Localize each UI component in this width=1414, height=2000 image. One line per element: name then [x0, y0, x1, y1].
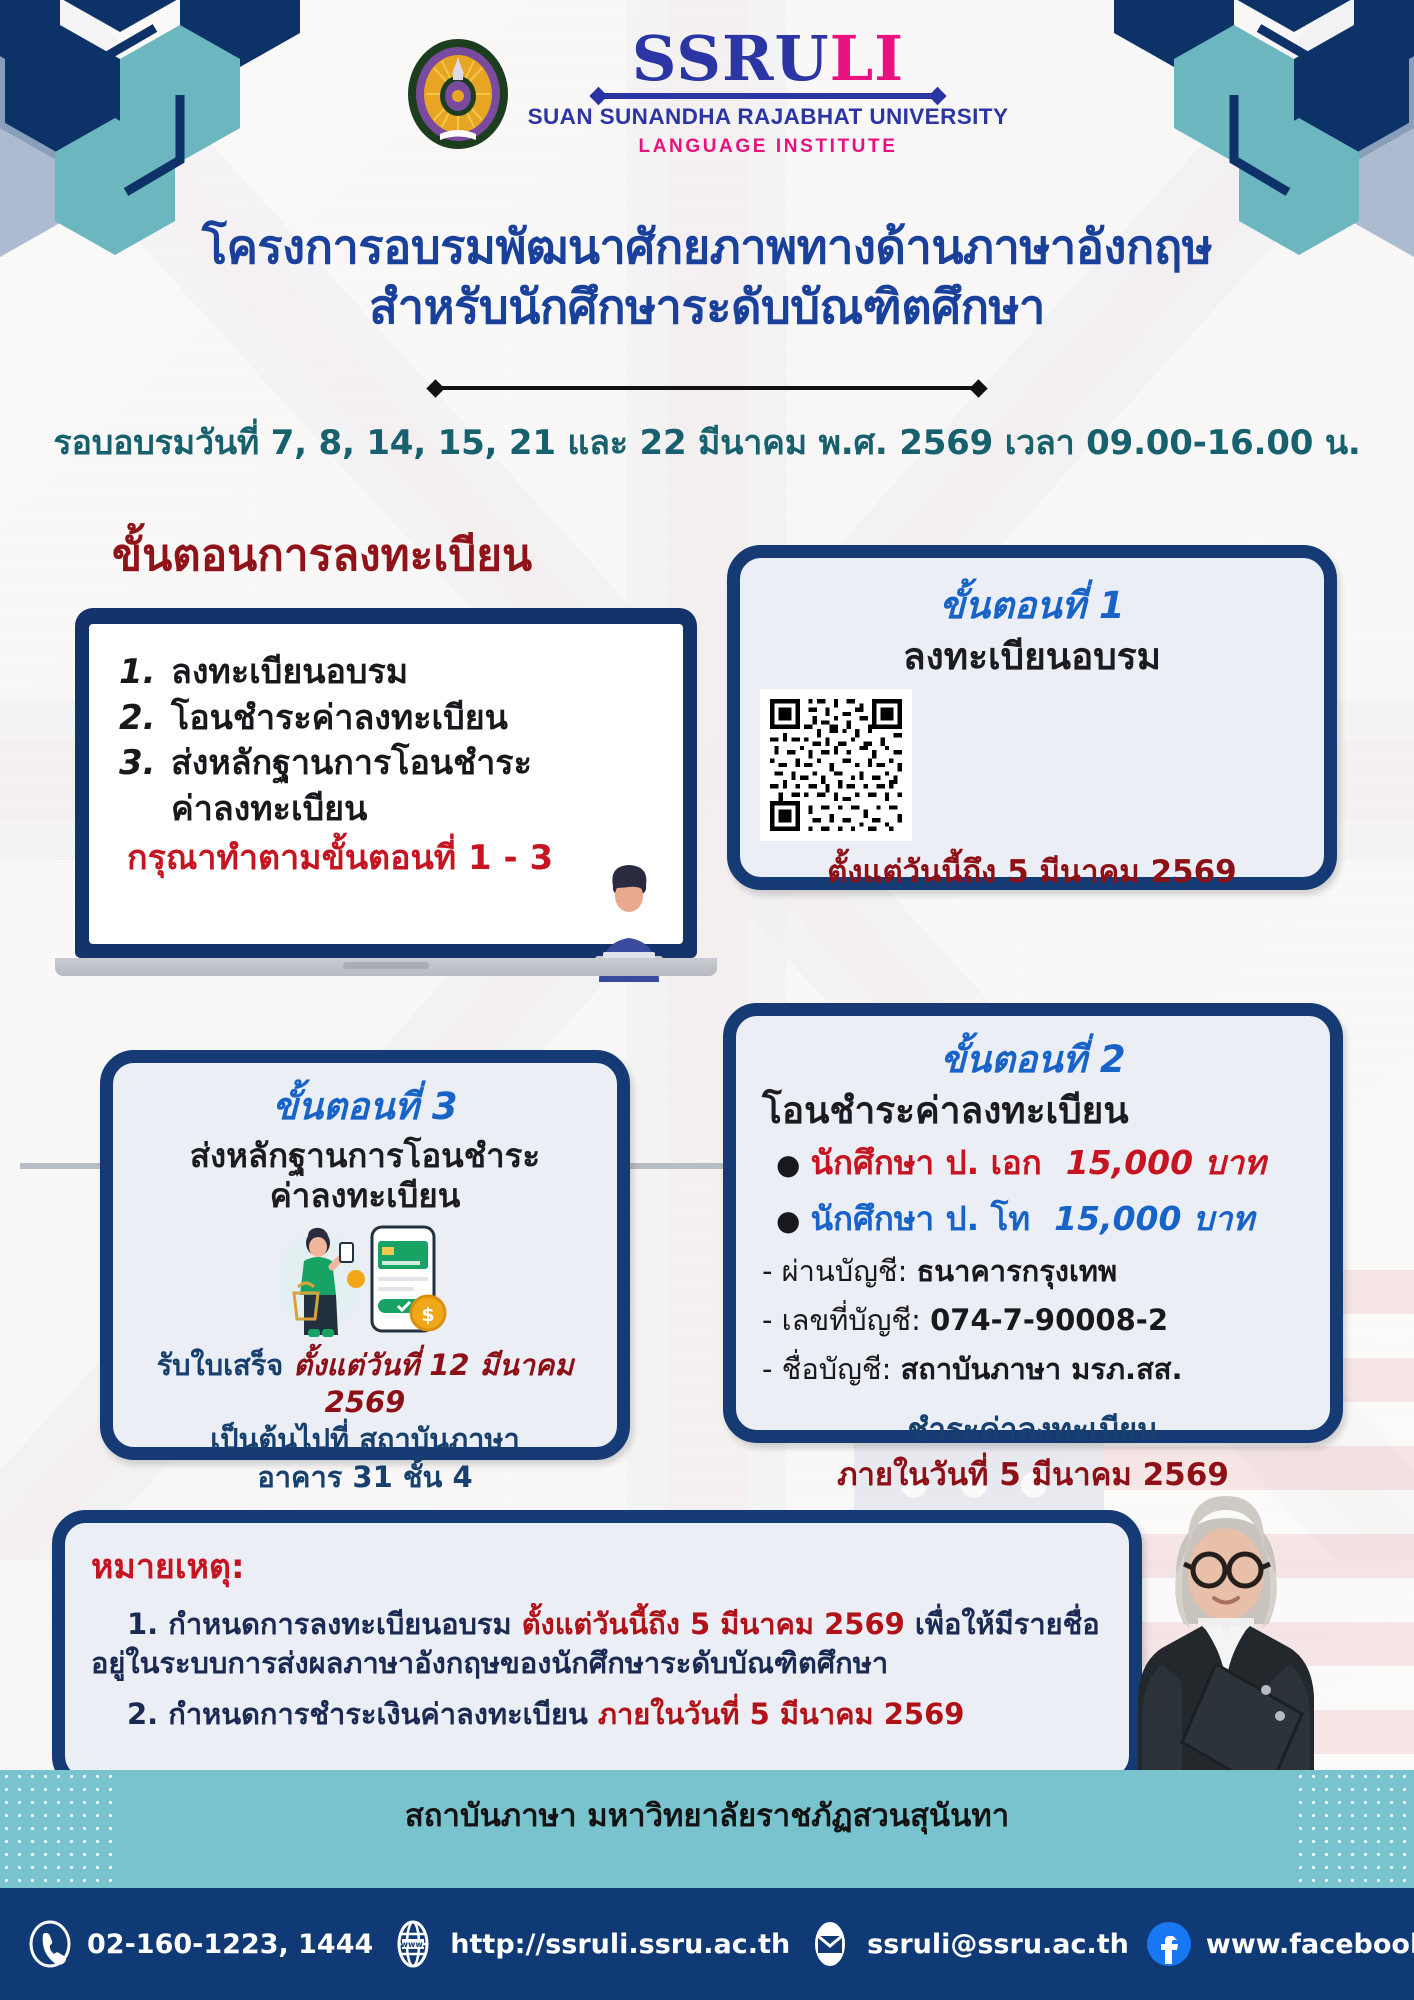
step-2-card: ขั้นตอนที่ 2 โอนชำระค่าลงทะเบียน ● นักศึ…: [723, 1003, 1343, 1443]
registration-steps-heading: ขั้นตอนการลงทะเบียน: [112, 520, 532, 590]
list-item: 3. ส่งหลักฐานการโอนชำระ: [119, 741, 657, 787]
bank-value: 074-7-90008-2: [930, 1303, 1168, 1337]
poster-root: SSRULI SUAN SUNANDHA RAJABHAT UNIVERSITY…: [0, 0, 1414, 2000]
note-2-prefix: 2. กำหนดการชำระเงินค่าลงทะเบียน: [127, 1697, 588, 1731]
mobile-payment-icon: $: [260, 1217, 470, 1345]
laptop-icon: 1. ลงทะเบียนอบรม 2. โอนชำระค่าลงทะเบียน …: [75, 608, 697, 976]
qr-code-icon[interactable]: [760, 689, 912, 841]
fee-row-master: ● นักศึกษา ป. โท 15,000 บาท: [776, 1192, 1304, 1245]
step-1-deadline: ตั้งแต่วันนี้ถึง 5 มีนาคม 2569: [760, 853, 1304, 892]
step-text: ส่งหลักฐานการโอนชำระ: [171, 741, 532, 787]
brand-unit-name: LANGUAGE INSTITUTE: [639, 136, 898, 158]
bullet-icon: ●: [776, 1151, 800, 1179]
step-3-subtitle-1: ส่งหลักฐานการโอนชำระ: [129, 1136, 601, 1176]
fee-row-phd: ● นักศึกษา ป. เอก 15,000 บาท: [776, 1136, 1304, 1189]
receipt-prefix: รับใบเสร็จ: [157, 1348, 284, 1382]
training-date-line: รอบอบรมวันที่ 7, 8, 14, 15, 21 และ 22 มี…: [0, 415, 1414, 469]
notes-card: หมายเหตุ: 1. กำหนดการลงทะเบียนอบรม ตั้งแ…: [52, 1510, 1142, 1790]
brand-acronym-blue: SSRU: [632, 22, 830, 95]
step-number: 3.: [119, 741, 157, 787]
note-1-date: ตั้งแต่วันนี้ถึง 5 มีนาคม 2569: [522, 1607, 905, 1641]
step-3-receipt-line-3: อาคาร 31 ชั้น 4: [129, 1459, 601, 1496]
contact-email[interactable]: ssruli@ssru.ac.th: [806, 1920, 1129, 1968]
bank-row-name: - ชื่อบัญชี: สถาบันภาษา มรภ.สส.: [762, 1346, 1304, 1392]
svg-text:$: $: [421, 1304, 434, 1326]
step-number: 1.: [119, 650, 157, 696]
step-2-subtitle: โอนชำระค่าลงทะเบียน: [762, 1089, 1304, 1133]
step-3-receipt-line-2: เป็นต้นไปที่ สถาบันภาษา: [129, 1421, 601, 1458]
bank-label: - ชื่อบัญชี:: [762, 1352, 891, 1386]
fee-label-phd: นักศึกษา ป. เอก: [810, 1136, 1041, 1189]
step-3-card: ขั้นตอนที่ 3 ส่งหลักฐานการโอนชำระ ค่าลงท…: [100, 1050, 630, 1460]
fee-label-master: นักศึกษา ป. โท: [810, 1192, 1030, 1245]
step-3-continuation: ค่าลงทะเบียน: [119, 787, 657, 833]
bank-value: ธนาคารกรุงเทพ: [917, 1254, 1118, 1288]
brand-acronym: SSRULI: [632, 30, 904, 89]
bank-value: สถาบันภาษา มรภ.สส.: [901, 1352, 1183, 1386]
title-line-1: โครงการอบรมพัฒนาศักยภาพทางด้านภาษาอังกฤษ: [0, 218, 1414, 278]
step-1-title: ขั้นตอนที่ 1: [760, 576, 1304, 635]
brand-university-name: SUAN SUNANDHA RAJABHAT UNIVERSITY: [528, 104, 1009, 130]
list-item: 2. โอนชำระค่าลงทะเบียน: [119, 696, 657, 742]
phone-icon: [26, 1920, 74, 1968]
organization-line: สถาบันภาษา มหาวิทยาลัยราชภัฏสวนสุนันทา: [0, 1790, 1414, 1840]
receipt-date: ตั้งแต่วันที่ 12 มีนาคม 2569: [293, 1348, 573, 1419]
step-text: โอนชำระค่าลงทะเบียน: [171, 696, 508, 742]
step-1-card: ขั้นตอนที่ 1 ลงทะเบียนอบรม: [727, 545, 1337, 890]
fee-amount-master: 15,000 บาท: [1054, 1192, 1254, 1245]
note-2-date: ภายในวันที่ 5 มีนาคม 2569: [598, 1697, 965, 1731]
bank-row-number: - เลขที่บัญชี: 074-7-90008-2: [762, 1297, 1304, 1343]
bank-row-channel: - ผ่านบัญชี: ธนาคารกรุงเทพ: [762, 1248, 1304, 1294]
step-3-receipt-line-1: รับใบเสร็จ ตั้งแต่วันที่ 12 มีนาคม 2569: [129, 1347, 601, 1421]
step-text: ลงทะเบียนอบรม: [171, 650, 408, 696]
step-3-subtitle-2: ค่าลงทะเบียน: [129, 1176, 601, 1216]
step-number: 2.: [119, 696, 157, 742]
step-1-subtitle: ลงทะเบียนอบรม: [760, 635, 1304, 679]
note-1-prefix: 1. กำหนดการลงทะเบียนอบรม: [127, 1607, 512, 1641]
contact-website-text: http://ssruli.ssru.ac.th: [450, 1929, 790, 1960]
contact-phone[interactable]: 02-160-1223, 1444: [26, 1920, 373, 1968]
notes-title: หมายเหตุ:: [91, 1539, 1103, 1593]
step-2-pay-note: ชำระค่าลงทะเบียน: [762, 1404, 1304, 1454]
bank-label: - ผ่านบัญชี:: [762, 1254, 907, 1288]
contact-facebook-text: www.facebook.com/ssruli: [1206, 1929, 1414, 1960]
brand-acronym-pink: LI: [830, 22, 905, 95]
title-line-2: สำหรับนักศึกษาระดับบัณฑิตศึกษา: [0, 278, 1414, 338]
step-2-title: ขั้นตอนที่ 2: [762, 1030, 1304, 1089]
contact-website[interactable]: www. http://ssruli.ssru.ac.th: [389, 1920, 790, 1968]
note-item-2: 2. กำหนดการชำระเงินค่าลงทะเบียน ภายในวัน…: [91, 1695, 1103, 1734]
step-3-title: ขั้นตอนที่ 3: [129, 1077, 601, 1136]
bank-label: - เลขที่บัญชี:: [762, 1303, 921, 1337]
contact-footer: 02-160-1223, 1444 www. http://ssruli.ssr…: [0, 1888, 1414, 2000]
contact-email-text: ssruli@ssru.ac.th: [867, 1929, 1129, 1960]
brand-rule: [598, 93, 938, 99]
contact-facebook[interactable]: www.facebook.com/ssruli: [1145, 1920, 1414, 1968]
note-item-1: 1. กำหนดการลงทะเบียนอบรม ตั้งแต่วันนี้ถึ…: [91, 1605, 1103, 1683]
globe-icon: www.: [389, 1920, 437, 1968]
facebook-icon: [1145, 1920, 1193, 1968]
title-divider: [427, 380, 987, 396]
page-title: โครงการอบรมพัฒนาศักยภาพทางด้านภาษาอังกฤษ…: [0, 218, 1414, 338]
brand-header: SSRULI SUAN SUNANDHA RAJABHAT UNIVERSITY…: [0, 30, 1414, 158]
university-seal-icon: [406, 38, 510, 150]
steps-list: 1. ลงทะเบียนอบรม 2. โอนชำระค่าลงทะเบียน …: [119, 650, 657, 787]
email-icon: [806, 1920, 854, 1968]
list-item: 1. ลงทะเบียนอบรม: [119, 650, 657, 696]
fee-amount-phd: 15,000 บาท: [1066, 1136, 1266, 1189]
bullet-icon: ●: [776, 1207, 800, 1235]
contact-phone-text: 02-160-1223, 1444: [87, 1929, 373, 1960]
svg-text:www.: www.: [401, 1940, 426, 1949]
